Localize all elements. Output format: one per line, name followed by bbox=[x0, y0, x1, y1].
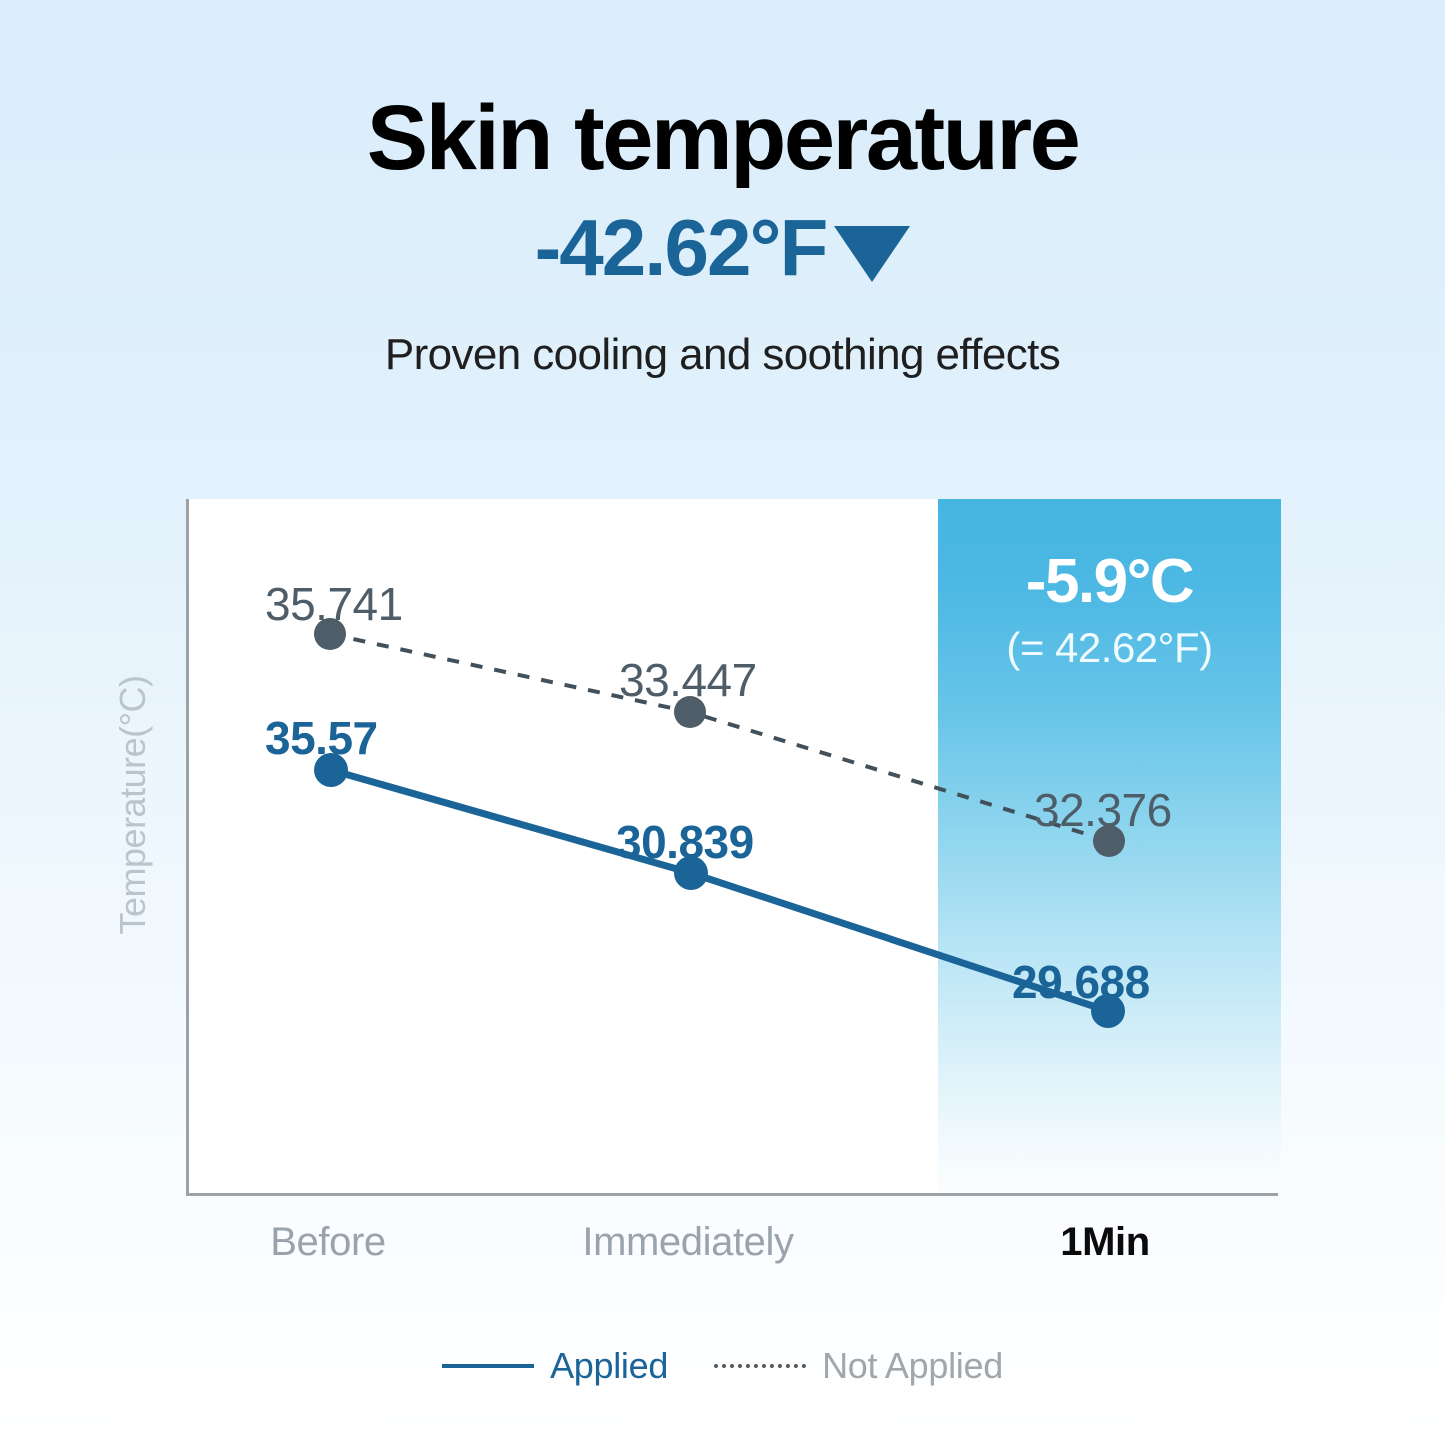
page-title: Skin temperature bbox=[0, 92, 1445, 184]
chart-container: Temperature(°C) 35.741 33.447 32.3 bbox=[0, 470, 1445, 1445]
x-axis-labels: Before Immediately 1Min bbox=[186, 1220, 1278, 1280]
legend-label-not-applied: Not Applied bbox=[822, 1345, 1003, 1387]
value-label-applied-1min: 29.688 bbox=[1012, 959, 1150, 1005]
plot-inner: 35.741 33.447 32.376 35.57 30.839 29.688… bbox=[189, 499, 1278, 1193]
legend-label-applied: Applied bbox=[550, 1345, 668, 1387]
y-axis-label: Temperature(°C) bbox=[112, 640, 154, 970]
legend-item-not-applied[interactable]: Not Applied bbox=[714, 1345, 1003, 1387]
value-label-not-applied-immediately: 33.447 bbox=[619, 657, 757, 703]
value-label-applied-before: 35.57 bbox=[265, 715, 378, 761]
page-subtitle: Proven cooling and soothing effects bbox=[0, 330, 1445, 380]
legend-dotted-line-icon bbox=[714, 1364, 806, 1368]
header: Skin temperature -42.62°F Proven cooling… bbox=[0, 0, 1445, 380]
x-label-before: Before bbox=[270, 1220, 385, 1265]
value-label-not-applied-1min: 32.376 bbox=[1034, 787, 1172, 833]
delta-summary: -42.62°F bbox=[0, 208, 1445, 288]
series-line-applied bbox=[331, 770, 1108, 1011]
plot-area: 35.741 33.447 32.376 35.57 30.839 29.688… bbox=[186, 499, 1278, 1196]
value-label-applied-immediately: 30.839 bbox=[616, 819, 754, 865]
down-caret-icon bbox=[834, 226, 910, 282]
chart-legend: Applied Not Applied bbox=[0, 1345, 1445, 1387]
x-label-1min: 1Min bbox=[1060, 1220, 1150, 1265]
value-label-not-applied-before: 35.741 bbox=[265, 581, 403, 627]
legend-solid-line-icon bbox=[442, 1364, 534, 1368]
x-label-immediately: Immediately bbox=[582, 1220, 793, 1265]
legend-item-applied[interactable]: Applied bbox=[442, 1345, 668, 1387]
delta-value: -42.62°F bbox=[535, 208, 827, 288]
